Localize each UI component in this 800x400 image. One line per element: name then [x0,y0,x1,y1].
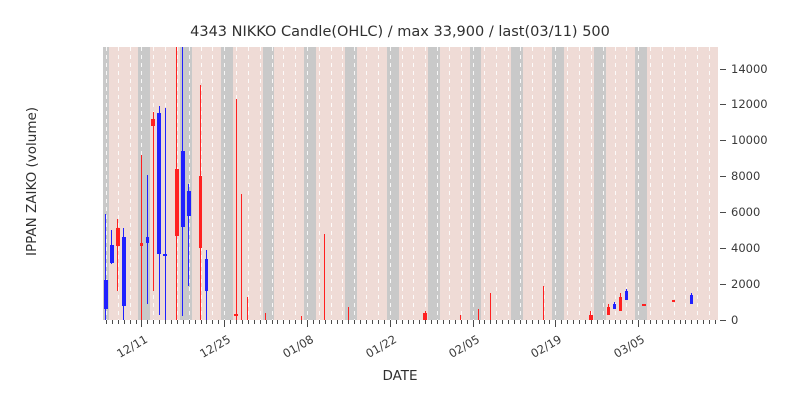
x-tick-mark-minor [567,320,568,324]
x-tick-mark-minor [484,320,485,324]
gridline-vertical [378,47,379,320]
candle-wick [478,309,479,320]
gridline-vertical [520,47,521,320]
y-tick-mark [720,248,726,249]
x-tick-mark-major [638,320,639,327]
gridline-vertical [307,47,308,320]
x-axis-title: DATE [0,368,800,384]
x-tick-mark-major [473,320,474,327]
candle-body [607,307,611,314]
x-tick-mark-minor [626,320,627,324]
background-band [523,47,553,320]
candle-body [613,304,617,309]
x-tick-mark-minor [431,320,432,324]
x-tick-mark-minor [461,320,462,324]
candle-body [672,300,676,302]
gridline-vertical [555,47,556,320]
chart-figure: 4343 NIKKO Candle(OHLC) / max 33,900 / l… [0,0,800,400]
background-band [470,47,482,320]
x-tick-mark-minor [662,320,663,324]
x-tick-mark-minor [136,320,137,324]
gridline-vertical [130,47,131,320]
x-tick-mark-minor [656,320,657,324]
gridline-vertical [638,47,639,320]
gridline-vertical [685,47,686,320]
gridline-vertical [402,47,403,320]
gridline-vertical [508,47,509,320]
candle-body [181,151,185,226]
x-tick-mark-minor [342,320,343,324]
x-tick-label: 12/11 [100,332,150,369]
gridline-vertical [212,47,213,320]
x-tick-mark-minor [674,320,675,324]
y-tick-label: 14000 [731,62,768,76]
x-tick-mark-minor [668,320,669,324]
candle-body [116,228,120,246]
x-tick-mark-minor [283,320,284,324]
x-tick-mark-minor [561,320,562,324]
x-tick-mark-minor [703,320,704,324]
x-tick-mark-minor [248,320,249,324]
x-tick-mark-minor [171,320,172,324]
y-tick-mark [720,69,726,70]
candle-body [234,314,238,316]
x-tick-mark-minor [201,320,202,324]
y-tick-mark [720,104,726,105]
candle-wick [247,297,248,320]
candle-wick [236,99,237,320]
candle-wick [153,112,154,292]
x-tick-mark-minor [425,320,426,324]
x-tick-mark-minor [354,320,355,324]
x-tick-mark-minor [183,320,184,324]
background-band [635,47,647,320]
candle-body [205,259,209,291]
gridline-vertical [354,47,355,320]
gridline-vertical [295,47,296,320]
gridline-vertical [342,47,343,320]
x-tick-mark-minor [295,320,296,324]
background-band [263,47,275,320]
x-tick-label: 01/08 [266,332,316,369]
candle-body [110,245,114,263]
x-tick-mark-major [224,320,225,327]
candle-wick [490,293,491,320]
x-tick-mark-minor [573,320,574,324]
gridline-vertical [319,47,320,320]
y-tick-mark [720,212,726,213]
candle-body [140,243,144,247]
background-band [647,47,718,320]
x-tick-mark-minor [242,320,243,324]
x-tick-mark-minor [408,320,409,324]
x-tick-mark-minor [490,320,491,324]
x-tick-mark-minor [206,320,207,324]
x-tick-mark-minor [413,320,414,324]
gridline-vertical [591,47,592,320]
x-tick-mark-major [141,320,142,327]
candle-wick [165,108,166,320]
x-tick-mark-minor [218,320,219,324]
gridline-vertical [567,47,568,320]
candle-body [187,191,191,216]
background-band [552,47,564,320]
candle-body [619,297,623,311]
gridline-vertical [224,47,225,320]
x-tick-mark-minor [526,320,527,324]
candle-body [163,254,167,256]
candle-body [175,169,179,235]
x-tick-mark-minor [467,320,468,324]
x-tick-mark-minor [609,320,610,324]
x-tick-mark-minor [195,320,196,324]
x-tick-mark-minor [396,320,397,324]
x-tick-label: 02/19 [514,332,564,369]
x-tick-mark-major [307,320,308,327]
gridline-vertical [437,47,438,320]
gridline-vertical [615,47,616,320]
x-tick-mark-minor [697,320,698,324]
x-tick-mark-minor [319,320,320,324]
x-tick-mark-minor [579,320,580,324]
y-tick-label: 6000 [731,205,760,219]
x-tick-mark-minor [632,320,633,324]
x-tick-mark-minor [130,320,131,324]
background-band [440,47,470,320]
candle-body [104,280,108,309]
x-tick-mark-minor [337,320,338,324]
y-tick-mark [720,284,726,285]
background-band [428,47,440,320]
x-tick-mark-minor [544,320,545,324]
background-band [606,47,636,320]
x-tick-mark-minor [147,320,148,324]
gridline-vertical [283,47,284,320]
x-tick-mark-minor [254,320,255,324]
x-tick-label: 12/25 [183,332,233,369]
candle-body [690,295,694,304]
gridline-vertical [697,47,698,320]
x-tick-mark-minor [189,320,190,324]
gridline-vertical [390,47,391,320]
x-tick-mark-minor [443,320,444,324]
x-tick-label: 03/05 [597,332,647,369]
x-tick-mark-minor [419,320,420,324]
x-tick-mark-major [555,320,556,327]
candle-wick [141,155,142,320]
x-tick-mark-minor [685,320,686,324]
y-tick-label: 4000 [731,241,760,255]
gridline-vertical [248,47,249,320]
x-tick-mark-minor [289,320,290,324]
gridline-vertical [484,47,485,320]
x-tick-mark-minor [620,320,621,324]
gridline-vertical [603,47,604,320]
x-tick-mark-minor [455,320,456,324]
gridline-vertical [461,47,462,320]
background-band [387,47,399,320]
x-tick-mark-minor [301,320,302,324]
candle-wick [348,307,349,320]
y-tick-label: 12000 [731,97,768,111]
gridline-vertical [425,47,426,320]
gridline-vertical [579,47,580,320]
x-tick-mark-minor [325,320,326,324]
candle-wick [543,286,544,320]
x-tick-mark-minor [597,320,598,324]
gridline-vertical [626,47,627,320]
gridline-vertical [532,47,533,320]
y-tick-mark [720,320,726,321]
x-tick-mark-minor [372,320,373,324]
x-tick-mark-major [390,320,391,327]
candle-body [146,237,150,242]
x-tick-mark-minor [378,320,379,324]
x-tick-mark-minor [709,320,710,324]
chart-title: 4343 NIKKO Candle(OHLC) / max 33,900 / l… [0,24,800,40]
x-tick-mark-minor [449,320,450,324]
x-tick-mark-minor [112,320,113,324]
x-tick-mark-minor [159,320,160,324]
y-tick-label: 10000 [731,133,768,147]
background-band [345,47,357,320]
x-tick-mark-minor [502,320,503,324]
x-tick-mark-minor [644,320,645,324]
plot-area [103,47,718,320]
gridline-vertical [260,47,261,320]
x-tick-mark-minor [549,320,550,324]
candle-body [642,304,646,306]
candle-body [199,176,203,248]
gridline-vertical [674,47,675,320]
x-tick-mark-minor [591,320,592,324]
x-tick-label: 02/05 [431,332,481,369]
x-tick-mark-minor [106,320,107,324]
x-tick-mark-minor [496,320,497,324]
gridline-vertical [473,47,474,320]
x-tick-mark-minor [402,320,403,324]
candle-body [122,237,126,305]
y-tick-label: 8000 [731,169,760,183]
x-tick-mark-minor [212,320,213,324]
background-band [274,47,304,320]
x-tick-mark-minor [603,320,604,324]
x-tick-mark-minor [124,320,125,324]
candle-body [625,291,629,300]
x-tick-mark-minor [508,320,509,324]
x-tick-mark-minor [532,320,533,324]
background-band [221,47,233,320]
x-tick-mark-minor [680,320,681,324]
x-tick-mark-minor [691,320,692,324]
x-tick-mark-minor [366,320,367,324]
background-band [357,47,387,320]
x-tick-mark-minor [650,320,651,324]
gridline-vertical [331,47,332,320]
y-tick-mark [720,140,726,141]
x-tick-mark-minor [615,320,616,324]
gridline-vertical [366,47,367,320]
x-tick-mark-minor [266,320,267,324]
x-tick-mark-minor [153,320,154,324]
x-tick-mark-minor [520,320,521,324]
background-band [304,47,316,320]
gridline-vertical [662,47,663,320]
x-tick-mark-minor [538,320,539,324]
x-tick-mark-minor [514,320,515,324]
x-tick-mark-minor [118,320,119,324]
candle-wick [241,194,242,320]
x-tick-mark-minor [313,320,314,324]
x-tick-mark-minor [360,320,361,324]
x-tick-mark-minor [715,320,716,324]
x-tick-mark-minor [479,320,480,324]
x-tick-mark-minor [230,320,231,324]
y-tick-label: 2000 [731,277,760,291]
gridline-vertical [650,47,651,320]
y-tick-mark [720,176,726,177]
candle-body [151,119,155,126]
gridline-vertical [544,47,545,320]
candle-body [423,313,427,320]
x-tick-mark-minor [437,320,438,324]
gridline-vertical [709,47,710,320]
gridline-vertical [272,47,273,320]
x-tick-mark-minor [165,320,166,324]
x-tick-mark-minor [384,320,385,324]
gridline-vertical [413,47,414,320]
candle-body [157,113,161,253]
x-tick-mark-minor [272,320,273,324]
x-tick-mark-minor [348,320,349,324]
x-tick-mark-minor [236,320,237,324]
candle-wick [324,234,325,320]
x-tick-mark-minor [277,320,278,324]
background-band [511,47,523,320]
candle-wick [265,313,266,320]
gridline-vertical [496,47,497,320]
y-tick-label: 0 [731,313,738,327]
y-axis-title: IPPAN ZAIKO (volume) [24,106,40,255]
x-tick-mark-minor [331,320,332,324]
gridline-vertical [449,47,450,320]
background-band [594,47,606,320]
x-tick-mark-minor [260,320,261,324]
x-tick-label: 01/22 [348,332,398,369]
x-tick-mark-minor [177,320,178,324]
x-tick-mark-minor [585,320,586,324]
